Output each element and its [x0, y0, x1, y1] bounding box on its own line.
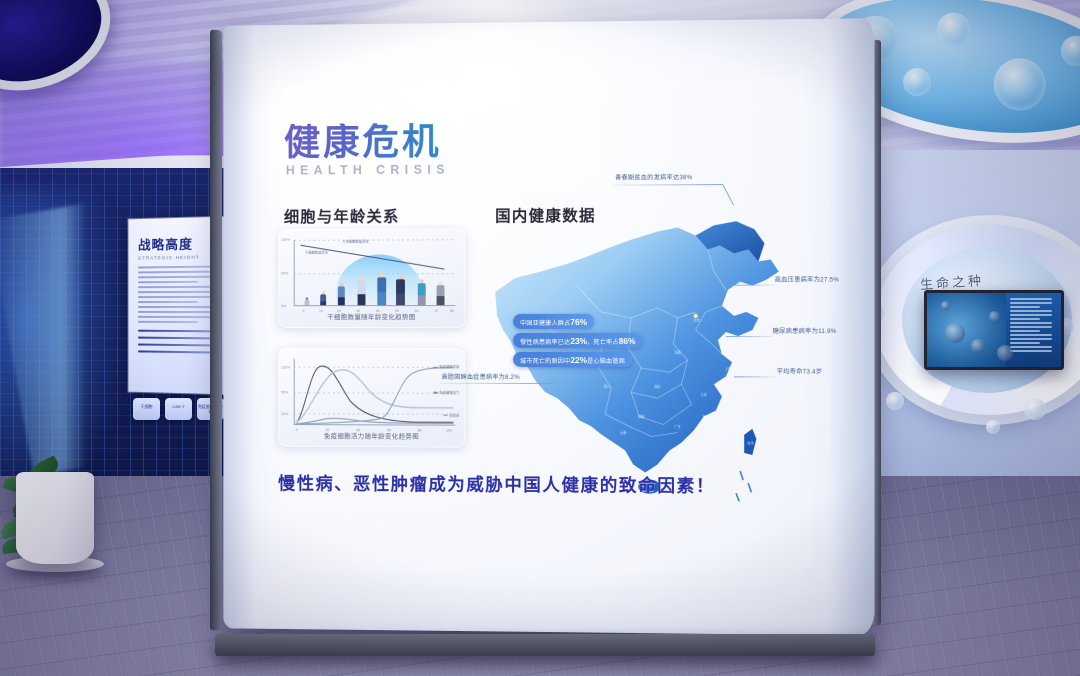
y-tick-label: 100%	[281, 365, 290, 369]
province-label: 四川	[604, 384, 610, 389]
figure-icon	[416, 279, 426, 305]
chart-caption-immune-cell: 免疫细胞活力随年龄变化趋势图	[278, 430, 465, 441]
cell-icon	[941, 301, 950, 310]
stat-pill-chronic: 慢性病患病率已达23%，死亡率占86%	[513, 333, 642, 348]
chip-car-t[interactable]: CAR-T	[165, 398, 192, 420]
bubble-decor-icon	[1024, 398, 1046, 420]
page-title: 健康危机	[284, 123, 442, 161]
province-label: 河南	[674, 350, 680, 355]
gridline	[294, 239, 456, 241]
callout-hypertension: 高血压患病率为27.5%	[775, 274, 839, 283]
exhibition-room-photo: 战略高度 STRATEGIC HEIGHT 干细胞 CAR-T 免疫细胞 抗肿瘤…	[0, 0, 1080, 676]
bubble-decor-icon	[986, 420, 1000, 434]
y-tick-label: 20%	[281, 412, 288, 416]
section-title-cell-age: 细胞与年龄关系	[284, 205, 400, 227]
callout-leader-anemia	[613, 184, 722, 186]
province-label: 云南	[620, 430, 626, 435]
board-left-edge	[210, 29, 222, 630]
figure-icon	[376, 273, 387, 305]
province-label: 江苏	[701, 392, 707, 397]
bubble-decor-icon	[990, 55, 1049, 114]
callout-life-expectancy: 平均寿命73.4岁	[777, 366, 823, 375]
map-mainland	[495, 227, 779, 473]
legend-immune-total: 免疫细胞总量	[433, 364, 459, 369]
page-subtitle: HEALTH CRISIS	[286, 163, 450, 178]
callout-leader-hypertension	[730, 285, 775, 286]
planter-pot	[16, 472, 94, 564]
province-label: 湖南	[638, 414, 644, 419]
callout-leader-life-expectancy	[734, 376, 777, 377]
cell-icon	[971, 339, 985, 353]
chart-card-stem-cell[interactable]: 100% 50% 0% 人体细胞数量变化 干细胞数量变化	[278, 228, 465, 328]
board-floor-base	[215, 634, 875, 656]
stem-cell-plot: 100% 50% 0% 人体细胞数量变化 干细胞数量变化	[294, 239, 456, 306]
y-tick-label: 50%	[281, 391, 288, 395]
chart-series-label: 干细胞数量变化	[305, 250, 328, 255]
y-tick-label: 0%	[281, 304, 286, 308]
y-tick-label: 50%	[281, 272, 288, 276]
bubble-decor-icon	[901, 66, 933, 98]
curve-immune-total	[296, 366, 454, 423]
province-label: 广东	[674, 424, 680, 429]
right-wall-screen[interactable]	[924, 290, 1064, 370]
screen-text-panel	[1006, 293, 1061, 367]
board-content: 健康危机 HEALTH CRISIS 细胞与年龄关系 国内健康数据 100% 5…	[266, 97, 846, 552]
figure-icon	[436, 281, 446, 305]
curve-immune-vitality	[296, 370, 454, 424]
bubble-decor-icon	[1059, 34, 1080, 68]
figure-icon	[357, 276, 367, 305]
stat-pill-cardiovascular: 城市死亡的原因中22%是心脑血管病	[513, 352, 632, 367]
province-label: 湖北	[654, 384, 660, 389]
callout-leader-diabetes	[726, 336, 773, 337]
figure-icon	[337, 282, 346, 305]
chart-inner-label: 人体细胞数量变化	[342, 239, 369, 244]
chart-caption-stem-cell: 干细胞数量随年龄变化趋势图	[278, 311, 465, 321]
cell-icon	[997, 345, 1013, 361]
chip-stem-cell[interactable]: 干细胞	[133, 398, 160, 420]
callout-anemia: 青春期贫血的发病率达38%	[615, 172, 692, 181]
callout-leader-anemia-diag	[722, 184, 734, 206]
province-label: 北京	[693, 317, 699, 322]
cell-icon	[989, 311, 1000, 322]
bottom-statement: 慢性病、恶性肿瘤成为威胁中国人健康的致命因素！	[278, 471, 838, 499]
screen-cell-visual	[927, 293, 1006, 367]
stat-pill-subhealth: 中国亚健康人群占76%	[513, 314, 594, 329]
province-label: 上海	[725, 366, 731, 371]
board-surface: 健康危机 HEALTH CRISIS 细胞与年龄关系 国内健康数据 100% 5…	[223, 18, 874, 636]
figure-icon	[395, 275, 406, 305]
immune-cell-plot: 100% 50% 20% 免疫细胞总量 免疫细胞活力 癌变率 0	[294, 359, 456, 426]
figure-icon	[319, 291, 327, 305]
bubble-decor-icon	[935, 10, 973, 48]
legend-cancer-rate: 癌变率	[443, 412, 459, 417]
bubble-decor-icon	[886, 392, 904, 410]
callout-diabetes: 糖尿病患病率为11.9%	[773, 326, 837, 335]
legend-immune-vitality: 免疫细胞活力	[433, 390, 459, 395]
exhibit-board: 健康危机 HEALTH CRISIS 细胞与年龄关系 国内健康数据 100% 5…	[205, 12, 885, 648]
cell-icon	[945, 323, 965, 343]
figure-icon	[303, 297, 310, 305]
chart-card-immune-cell[interactable]: 100% 50% 20% 免疫细胞总量 免疫细胞活力 癌变率 0	[278, 348, 465, 448]
y-tick-label: 100%	[281, 238, 290, 242]
province-label: 台湾	[747, 440, 753, 445]
callout-cholesterol: 高胆固醇血症患病率为8.2%	[442, 372, 520, 381]
immune-curves	[294, 359, 456, 426]
province-label: 福建	[703, 414, 709, 419]
